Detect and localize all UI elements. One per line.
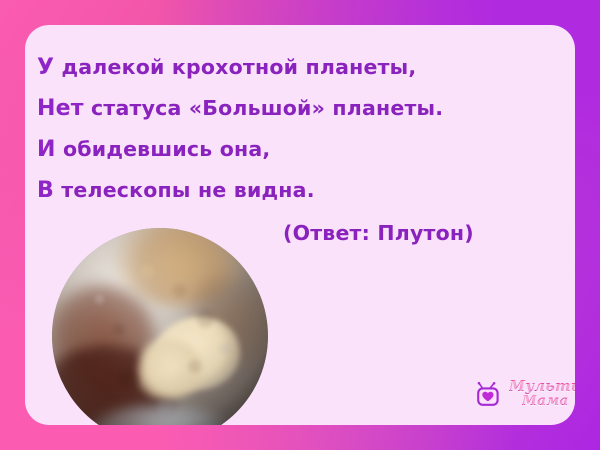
poem-line-1-lead: У <box>37 55 54 80</box>
answer-prefix: (Ответ: <box>283 221 377 245</box>
pluto-sphere <box>52 228 268 425</box>
poem-line-2-stress: «Большой» <box>189 96 325 120</box>
poem-line-3-rest: обидевшись она, <box>56 137 271 161</box>
poem-line-1-rest: далекой крохотной планеты, <box>54 55 416 79</box>
poem-line-3-lead: И <box>37 137 56 162</box>
poem-line-2-lead: Нет <box>37 96 84 121</box>
poem-line-4-rest: телескопы не видна. <box>54 178 315 202</box>
poster-canvas: У далекой крохотной планеты, Нет статуса… <box>0 0 600 450</box>
poem-line-2-rest: статуса <box>84 96 189 120</box>
poem-line-2-tail: планеты. <box>325 96 443 120</box>
poem-line-1: У далекой крохотной планеты, <box>37 47 557 88</box>
poem-line-4: В телескопы не видна. <box>37 170 557 211</box>
brand-line-2: Мама <box>522 395 568 409</box>
pluto-image <box>52 228 268 425</box>
poem-line-4-lead: В <box>37 178 54 203</box>
poem-line-2: Нет статуса «Большой» планеты. <box>37 88 557 129</box>
answer-suffix: ) <box>464 221 474 245</box>
riddle-answer: (Ответ: Плутон) <box>283 221 474 245</box>
answer-word: Плутон <box>377 221 464 245</box>
content-card: У далекой крохотной планеты, Нет статуса… <box>25 25 575 425</box>
brand-wordmark: Мульти Мама <box>509 380 575 409</box>
brand-logo[interactable]: Мульти Мама <box>477 372 573 416</box>
brand-line-1: Мульти <box>509 380 575 395</box>
tv-heart-icon <box>477 382 504 407</box>
poem-line-3: И обидевшись она, <box>37 129 557 170</box>
riddle-poem: У далекой крохотной планеты, Нет статуса… <box>37 47 557 211</box>
